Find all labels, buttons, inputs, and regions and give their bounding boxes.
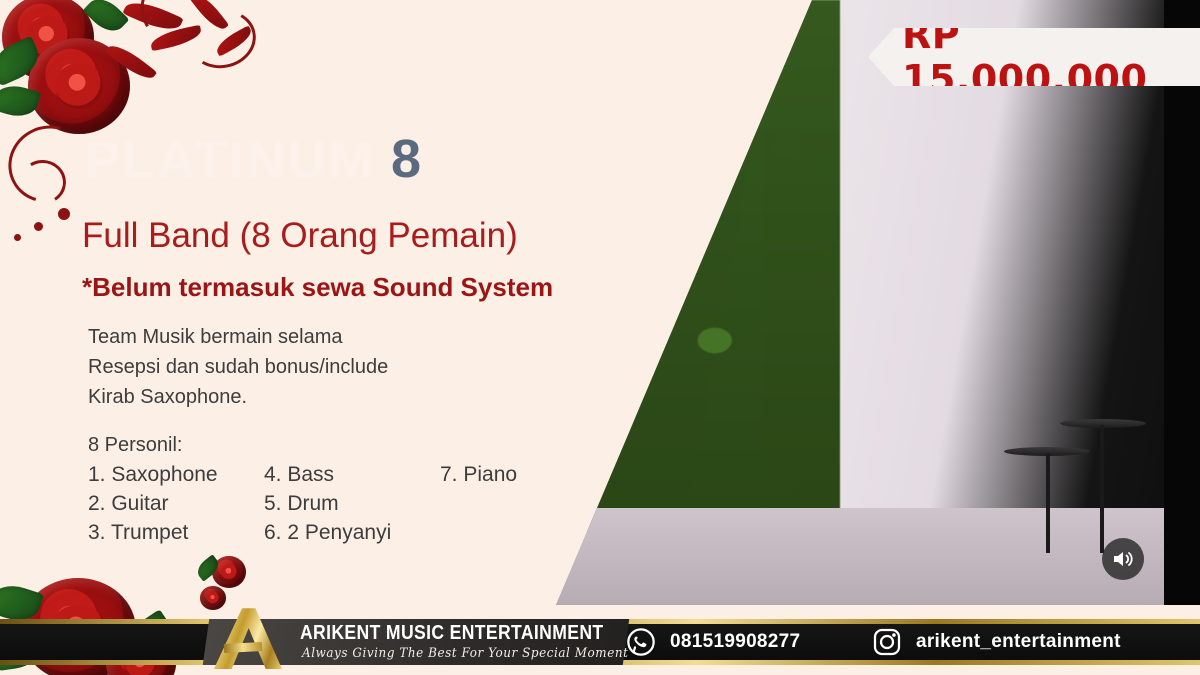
personnel-heading: 8 Personil: bbox=[88, 434, 183, 457]
brand-name: ARIKENT MUSIC ENTERTAINMENT bbox=[300, 622, 603, 645]
personnel-column-3: 7. Piano bbox=[440, 460, 517, 547]
right-letterbox-bar bbox=[1164, 0, 1200, 605]
filigree-dot bbox=[14, 234, 21, 241]
description-line: Team Musik bermain selama bbox=[88, 322, 388, 352]
filigree-dot bbox=[34, 222, 43, 231]
arikent-logo-icon bbox=[208, 607, 282, 669]
drum-kit bbox=[1000, 417, 1170, 557]
filigree-dot bbox=[58, 208, 70, 220]
package-description: Team Musik bermain selama Resepsi dan su… bbox=[88, 322, 388, 412]
footer: ARIKENT MUSIC ENTERTAINMENT Always Givin… bbox=[0, 605, 1200, 675]
description-line: Kirab Saxophone. bbox=[88, 382, 388, 412]
package-subnote: *Belum termasuk sewa Sound System bbox=[82, 272, 553, 303]
volume-on-icon bbox=[1111, 547, 1135, 571]
drum-stand-rod bbox=[1100, 425, 1104, 553]
instagram-icon bbox=[872, 627, 902, 657]
description-line: Resepsi dan sudah bonus/include bbox=[88, 352, 388, 382]
whatsapp-icon bbox=[626, 627, 656, 657]
personnel-item: 5. Drum bbox=[264, 489, 440, 518]
personnel-item: 4. Bass bbox=[264, 460, 440, 489]
drum-stand-rod bbox=[1046, 453, 1050, 553]
logo-letter-a bbox=[208, 607, 282, 669]
personnel-column-1: 1. Saxophone 2. Guitar 3. Trumpet bbox=[88, 460, 264, 547]
price-banner: RP 15.000.000 bbox=[868, 28, 1200, 86]
personnel-item: 3. Trumpet bbox=[88, 518, 264, 547]
volume-button[interactable] bbox=[1102, 538, 1144, 580]
whatsapp-contact[interactable]: 081519908277 bbox=[626, 619, 800, 665]
personnel-list: 1. Saxophone 2. Guitar 3. Trumpet 4. Bas… bbox=[88, 460, 517, 547]
promo-poster: Arikent bbox=[0, 0, 1200, 675]
personnel-item: 6. 2 Penyanyi bbox=[264, 518, 440, 547]
package-title-main: PLATINUM bbox=[84, 128, 375, 190]
logo-ribbon-bar bbox=[224, 642, 263, 653]
whatsapp-number: 081519908277 bbox=[670, 631, 800, 653]
instagram-handle: arikent_entertainment bbox=[916, 631, 1121, 653]
package-title: PLATINUM 8 bbox=[84, 128, 421, 190]
instagram-contact[interactable]: arikent_entertainment bbox=[872, 619, 1121, 665]
brand-tagline: Always Giving The Best For Your Special … bbox=[302, 646, 628, 661]
package-headline: Full Band (8 Orang Pemain) bbox=[82, 216, 518, 256]
package-title-number: 8 bbox=[391, 128, 421, 190]
personnel-item: 1. Saxophone bbox=[88, 460, 264, 489]
personnel-item: 2. Guitar bbox=[88, 489, 264, 518]
personnel-item: 7. Piano bbox=[440, 460, 517, 489]
personnel-column-2: 4. Bass 5. Drum 6. 2 Penyanyi bbox=[264, 460, 440, 547]
